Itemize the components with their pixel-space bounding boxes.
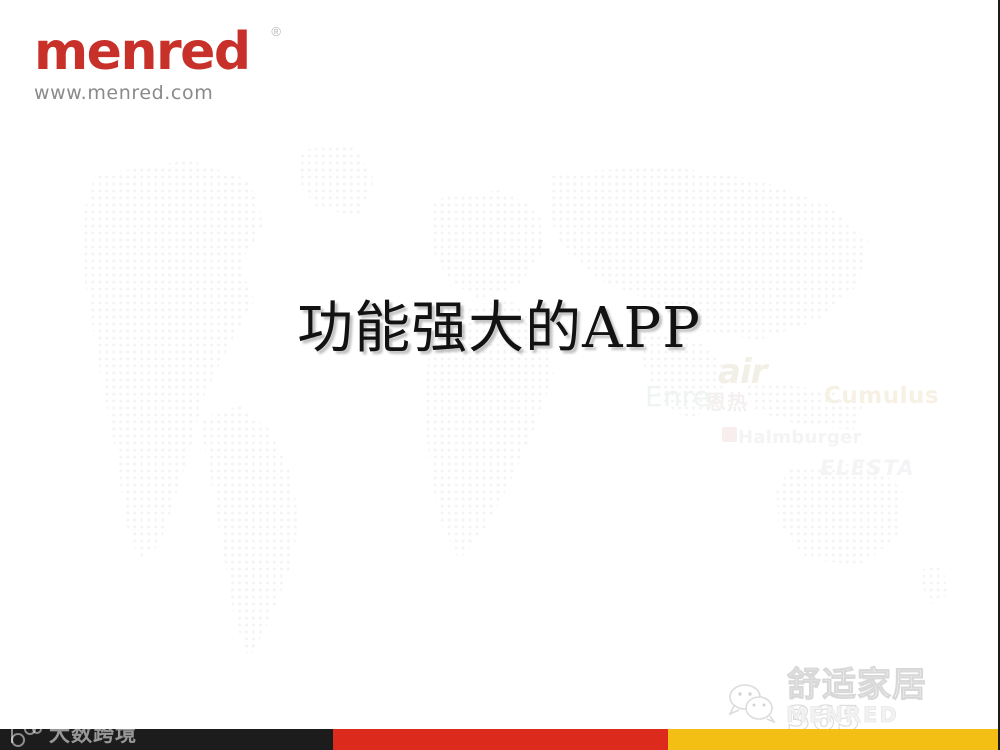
registered-trademark-icon: ® (271, 24, 281, 39)
title-container: 功能强大的APP (0, 298, 998, 361)
partner-logo-enre-chinese: 恩热 (706, 386, 748, 415)
partner-logo-elesta: ELESTA (820, 456, 915, 480)
brand-logo-text: menred (34, 26, 250, 78)
partner-logo-halmburger: Halmburger (738, 427, 862, 448)
wechat-icon (726, 681, 778, 723)
brand-website: www.menred.com (34, 84, 264, 103)
partner-logo-cumulus: Cumulus (824, 383, 939, 409)
wechat-account-block: 舒适家居365 (726, 668, 998, 736)
partner-logo-halmburger-mark-icon (722, 427, 737, 442)
world-map-background (0, 0, 998, 750)
wechat-account-name: 舒适家居365 (787, 668, 998, 736)
flag-segment-black (0, 729, 333, 750)
footer-flag-bar (0, 729, 998, 750)
presentation-slide: menred ® www.menred.com 功能强大的APP air Enr… (0, 0, 1000, 750)
page-title: 功能强大的APP (297, 298, 701, 361)
brand-logo: menred ® www.menred.com (34, 26, 264, 103)
flag-segment-red (333, 729, 668, 750)
flag-segment-gold (668, 729, 998, 750)
partner-logo-enre: Enre (645, 380, 711, 413)
